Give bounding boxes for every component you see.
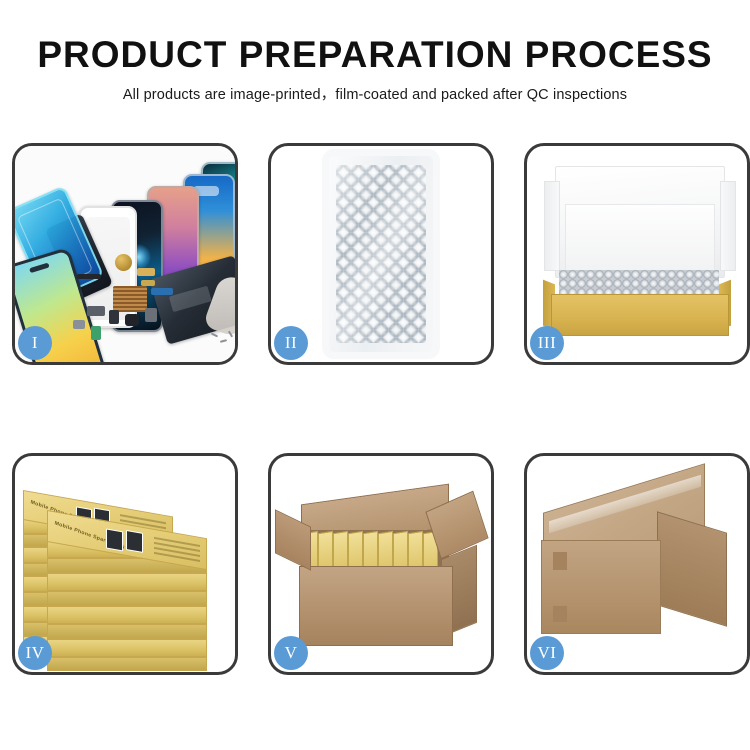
step-panel-frame: I — [12, 143, 238, 365]
screws-icon — [211, 332, 235, 348]
part-green-icon — [91, 326, 101, 340]
box-print-screen-b — [126, 530, 143, 553]
foam-insert-icon — [565, 204, 715, 274]
stacked-box-edge — [47, 591, 207, 606]
carton-front-wall — [299, 566, 453, 646]
part-metal-icon — [73, 320, 85, 329]
step-image-carton-sealed — [527, 456, 747, 672]
step-panel-frame: II — [268, 143, 494, 365]
box-front-wall-kraft — [551, 294, 729, 336]
bubble-wrap-sheet — [336, 165, 426, 343]
speaker-coil-icon — [115, 254, 132, 271]
step-image-inner-box — [527, 146, 747, 362]
page-title: PRODUCT PREPARATION PROCESS — [0, 0, 750, 76]
part-flex-cable-icon — [151, 288, 173, 295]
stacked-box-edge — [47, 657, 207, 671]
step-badge-5: V — [274, 636, 308, 670]
bubble-wrapped-item — [329, 156, 433, 352]
step-image-carton-filling — [271, 456, 491, 672]
step-card-4: Mobile Phone Spare Parts — [12, 453, 238, 675]
step-panel-frame: V — [268, 453, 494, 675]
part-camera-icon — [125, 314, 139, 326]
step-panel-frame: Mobile Phone Spare Parts — [12, 453, 238, 675]
part-connector-icon — [87, 306, 105, 316]
step-badge-4: IV — [18, 636, 52, 670]
step-badge-6: VI — [530, 636, 564, 670]
step-card-1: I — [12, 143, 238, 365]
stacked-box-edge — [47, 606, 207, 624]
kraft-box-stack: Mobile Phone Spare Parts — [21, 470, 233, 670]
step-image-bubble-wrap — [271, 146, 491, 362]
step-panel-frame: III — [524, 143, 750, 365]
product-preparation-infographic: PRODUCT PREPARATION PROCESS All products… — [0, 0, 750, 750]
step-image-products — [15, 146, 235, 362]
carton-right-face — [657, 511, 727, 626]
header: PRODUCT PREPARATION PROCESS All products… — [0, 0, 750, 104]
process-steps-grid: I II — [12, 143, 738, 675]
step-badge-3: III — [530, 326, 564, 360]
page-subtitle: All products are image-printed，film-coat… — [0, 76, 750, 104]
step-badge-1: I — [18, 326, 52, 360]
stacked-box-edge — [47, 573, 207, 591]
step-image-box-stack: Mobile Phone Spare Parts — [15, 456, 235, 672]
stacked-box-edge — [47, 639, 207, 657]
step-panel-frame: VI — [524, 453, 750, 675]
part-bracket-icon — [145, 308, 157, 322]
step-card-6: VI — [524, 453, 750, 675]
step-card-5: V — [268, 453, 494, 675]
step-badge-2: II — [274, 326, 308, 360]
step-card-2: II — [268, 143, 494, 365]
plastic-sheen — [336, 165, 426, 343]
chip-array-icon — [113, 286, 147, 312]
part-strip-icon — [77, 274, 101, 279]
part-battery-icon — [109, 310, 119, 324]
part-gold-b-icon — [141, 280, 155, 286]
stacked-box-edge — [47, 624, 207, 639]
carton-tab-lower — [553, 606, 567, 622]
part-gold-a-icon — [137, 268, 155, 276]
step-card-3: III — [524, 143, 750, 365]
bubble-wrapped-contents-icon — [559, 270, 719, 296]
carton-tab-upper — [553, 552, 567, 570]
box-print-screen-a — [106, 528, 123, 551]
